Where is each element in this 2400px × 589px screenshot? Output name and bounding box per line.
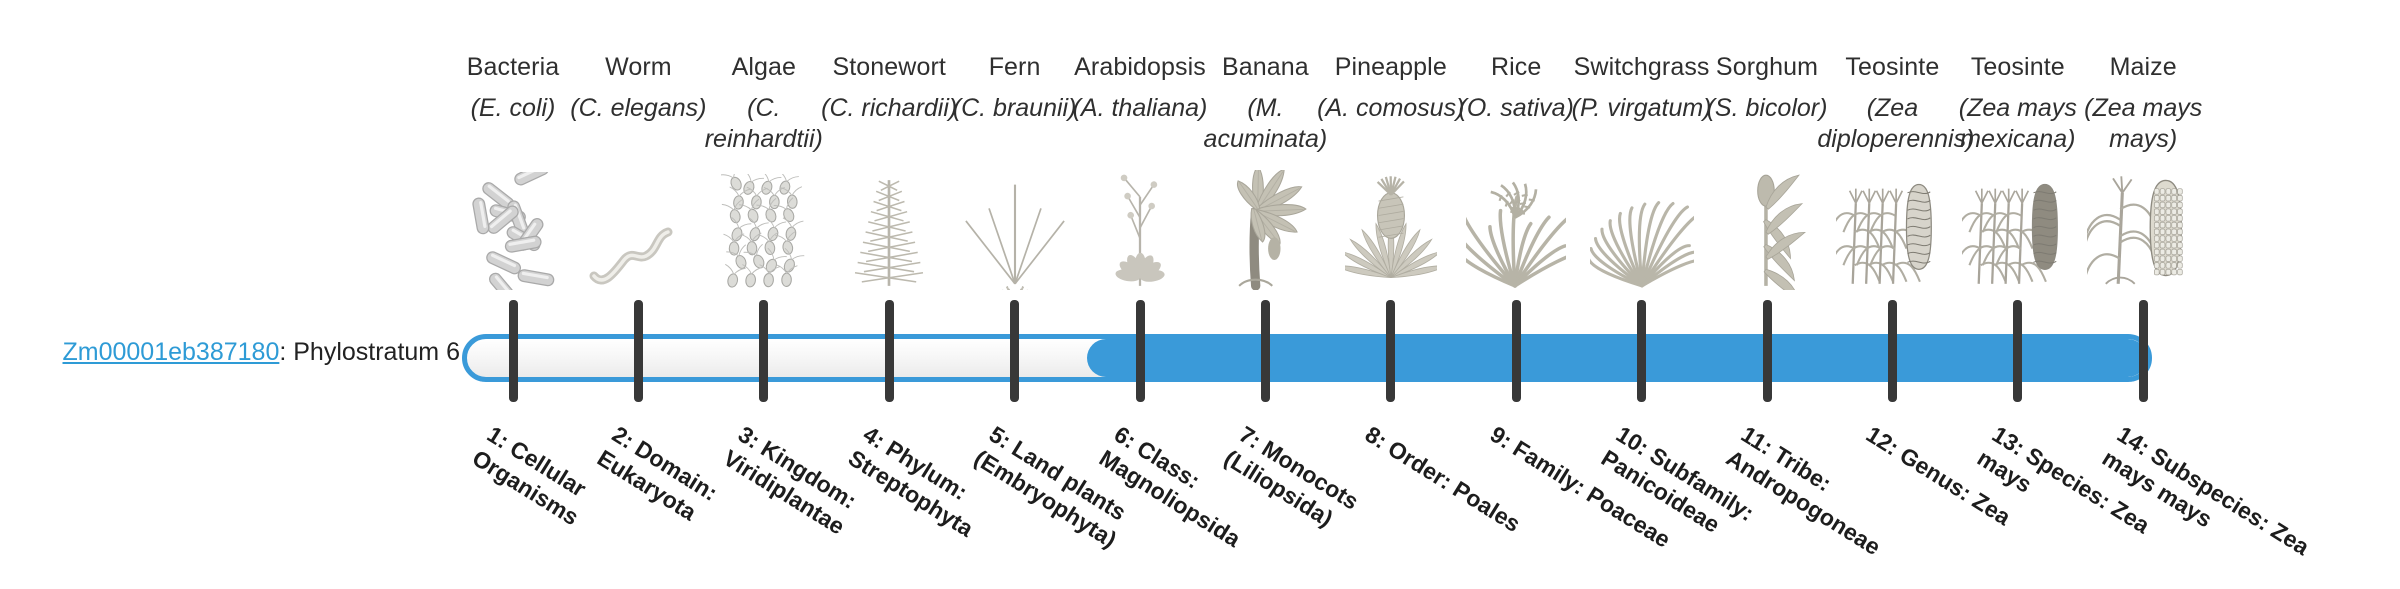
tick-mark-5 <box>1010 300 1019 402</box>
tick-mark-9 <box>1512 300 1521 402</box>
phylostratum-figure: Zm00001eb387180: Phylostratum 6 Bacteria… <box>0 0 2400 580</box>
rank-text: Cellular Organisms <box>468 435 591 530</box>
species-common-name: Maize <box>2068 52 2218 83</box>
species-scientific-name: (Zea mays mays) <box>2068 93 2218 154</box>
maize-plant-icon <box>2068 168 2218 290</box>
tick-mark-8 <box>1386 300 1395 402</box>
species-column-maize-14: Maize(Zea mays mays) <box>2068 52 2218 154</box>
tick-mark-3 <box>759 300 768 402</box>
tick-mark-6 <box>1136 300 1145 402</box>
rank-number: 12: <box>1862 421 1904 461</box>
phylostratum-bar[interactable] <box>462 334 2152 382</box>
rank-number: 8: <box>1360 421 1391 454</box>
tick-mark-14 <box>2139 300 2148 402</box>
tick-mark-10 <box>1637 300 1646 402</box>
bar-track <box>462 334 2152 382</box>
tick-mark-7 <box>1261 300 1270 402</box>
tick-mark-13 <box>2013 300 2022 402</box>
tick-mark-11 <box>1763 300 1772 402</box>
tick-mark-2 <box>634 300 643 402</box>
tick-mark-12 <box>1888 300 1897 402</box>
gene-id-link[interactable]: Zm00001eb387180 <box>63 338 280 366</box>
gene-phylostratum-text: : Phylostratum 6 <box>279 338 460 366</box>
gene-caption: Zm00001eb387180: Phylostratum 6 <box>40 337 460 367</box>
tick-mark-1 <box>509 300 518 402</box>
tick-mark-4 <box>885 300 894 402</box>
